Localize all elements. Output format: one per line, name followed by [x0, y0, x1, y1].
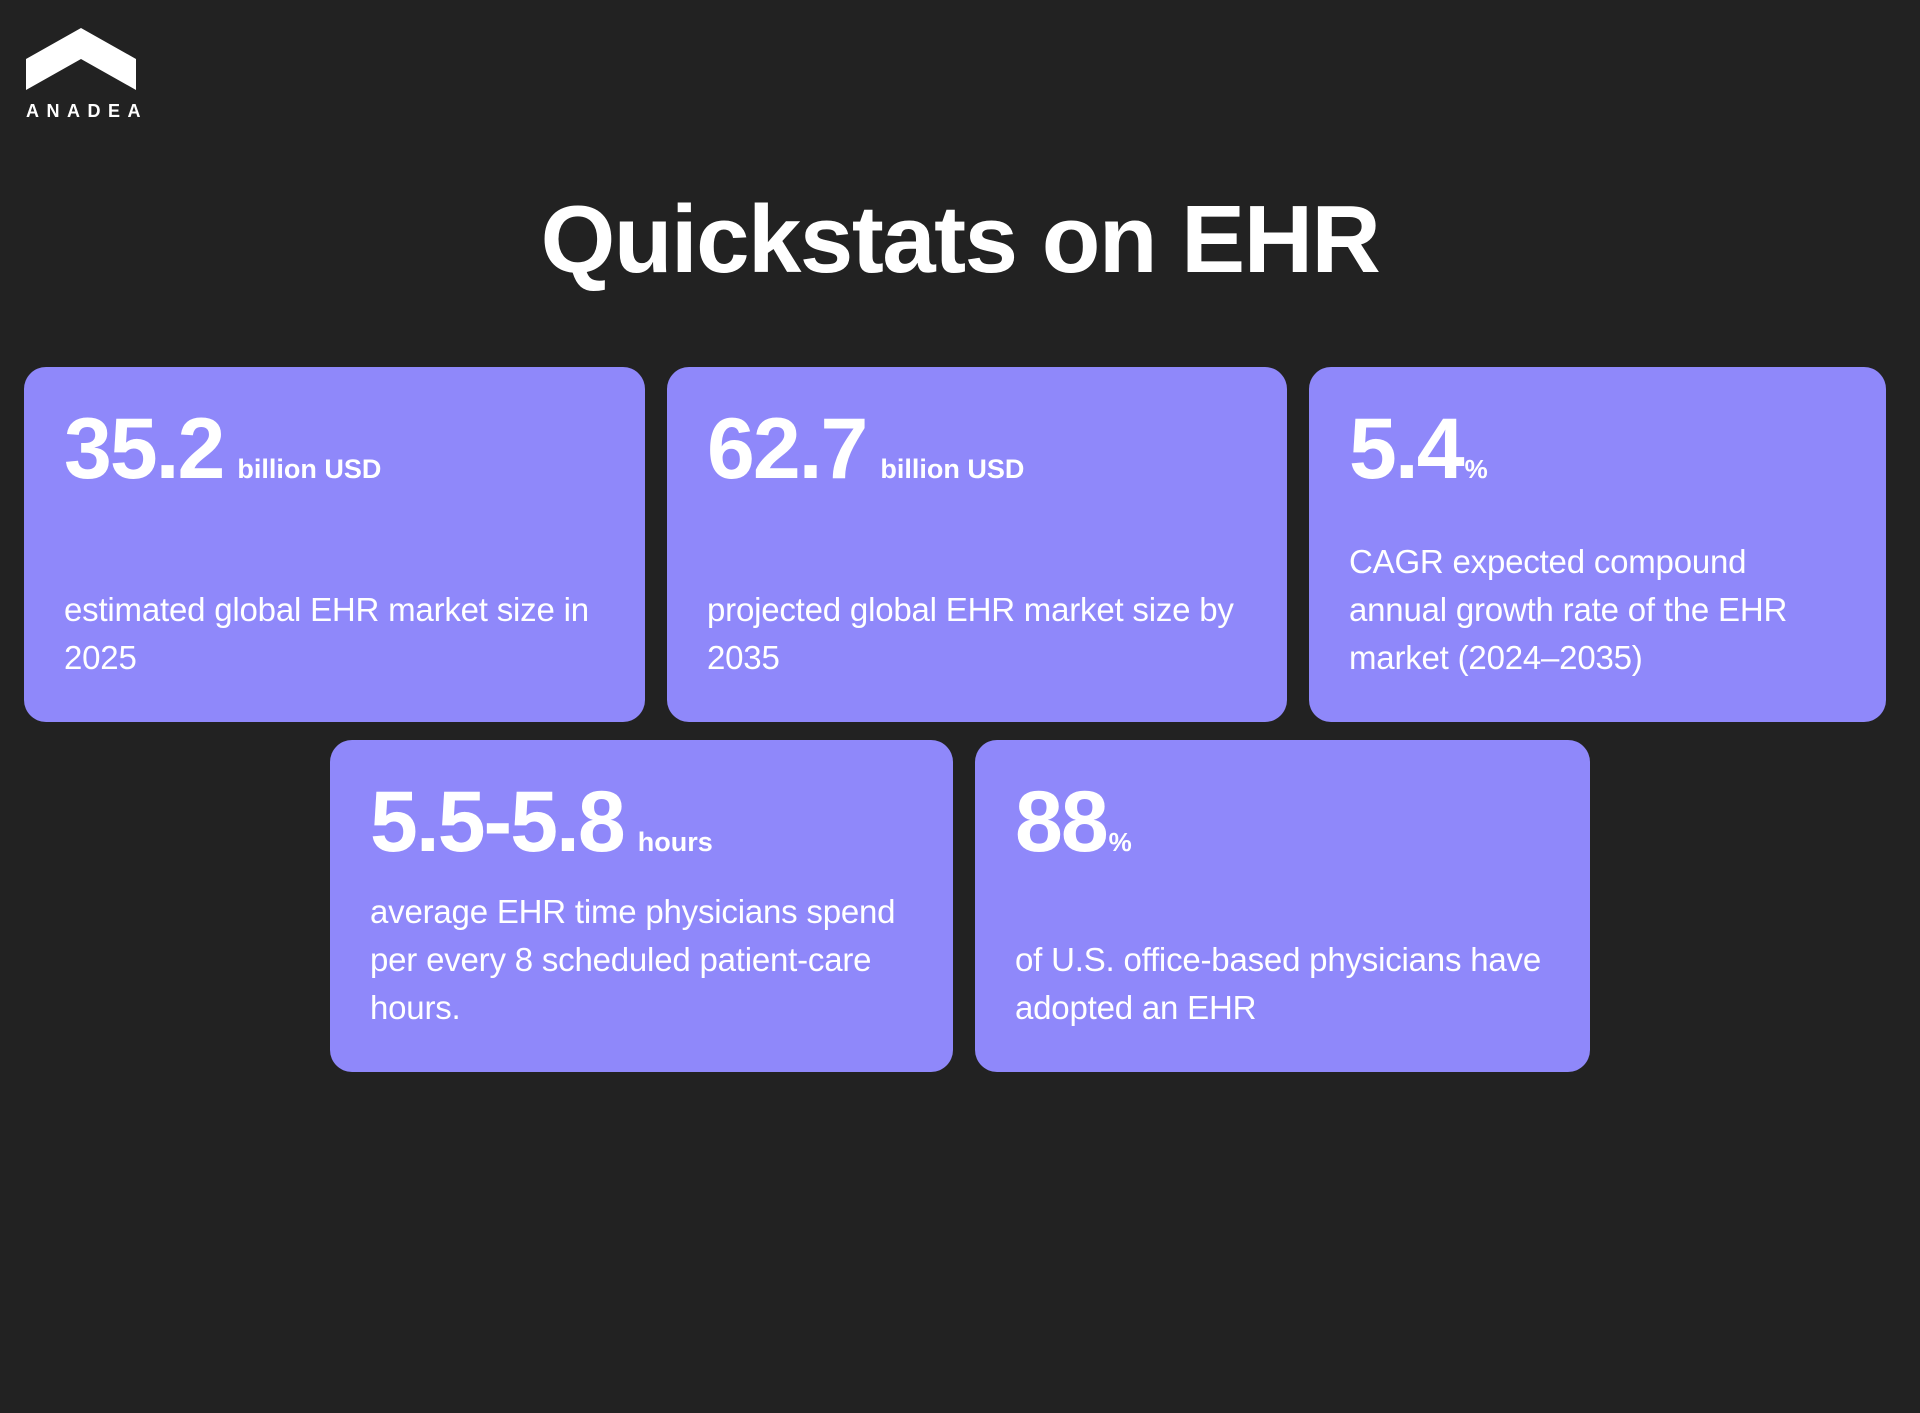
stat-description: average EHR time physicians spend per ev…	[370, 888, 913, 1032]
stat-headline: 88 %	[1015, 782, 1550, 864]
stat-description: estimated global EHR market size in 2025	[64, 586, 605, 682]
stat-value: 35.2	[64, 409, 223, 491]
stat-headline: 35.2 billion USD	[64, 409, 605, 491]
stat-card-ehr-market-2035: 62.7 billion USD projected global EHR ma…	[667, 367, 1287, 722]
stat-value: 88	[1015, 782, 1107, 864]
stat-card-ehr-time: 5.5-5.8 hours average EHR time physician…	[330, 740, 953, 1072]
stat-card-ehr-market-2025: 35.2 billion USD estimated global EHR ma…	[24, 367, 645, 722]
stat-card-row-bottom: 5.5-5.8 hours average EHR time physician…	[330, 740, 1610, 1072]
stat-headline: 5.4 %	[1349, 409, 1846, 491]
stat-headline: 5.5-5.8 hours	[370, 782, 913, 864]
stat-headline: 62.7 billion USD	[707, 409, 1247, 491]
page-title: Quickstats on EHR	[0, 190, 1920, 291]
brand-logo: ANADEA	[26, 28, 256, 120]
stat-unit: billion USD	[237, 456, 381, 483]
stat-value: 5.4	[1349, 409, 1463, 491]
stat-card-ehr-adoption: 88 % of U.S. office-based physicians hav…	[975, 740, 1590, 1072]
stat-value: 5.5-5.8	[370, 782, 624, 864]
stat-description: projected global EHR market size by 2035	[707, 586, 1247, 682]
stat-description: of U.S. office-based physicians have ado…	[1015, 936, 1550, 1032]
stat-unit: %	[1109, 829, 1132, 855]
anadea-chevron-logo-icon	[26, 28, 136, 90]
stat-unit: hours	[638, 829, 713, 856]
stat-card-cagr: 5.4 % CAGR expected compound annual grow…	[1309, 367, 1886, 722]
brand-wordmark: ANADEA	[26, 102, 256, 120]
stat-unit: billion USD	[880, 456, 1024, 483]
stat-description: CAGR expected compound annual growth rat…	[1349, 538, 1846, 682]
stat-value: 62.7	[707, 409, 866, 491]
infographic-page: ANADEA Quickstats on EHR 35.2 billion US…	[0, 0, 1920, 1413]
stat-unit: %	[1465, 456, 1488, 482]
stat-card-row-top: 35.2 billion USD estimated global EHR ma…	[24, 367, 1904, 722]
